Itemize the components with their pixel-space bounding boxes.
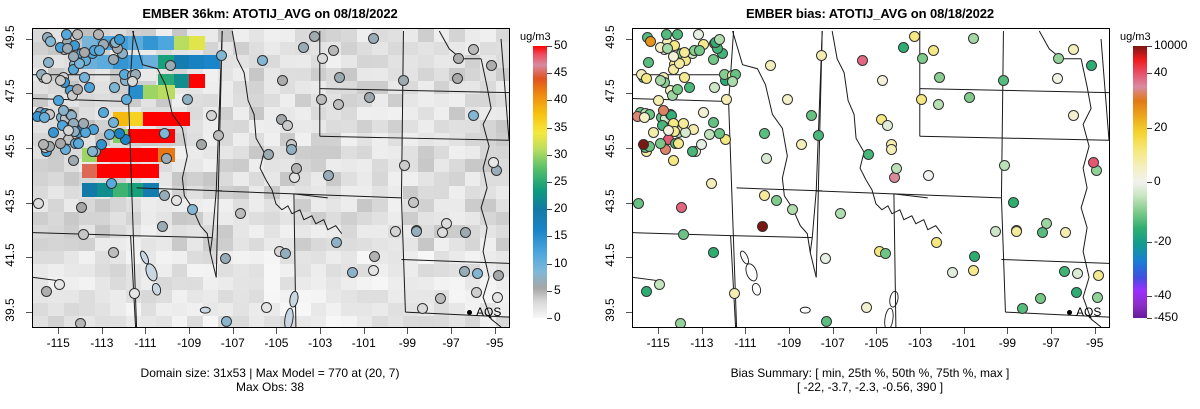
x-tick	[495, 328, 496, 334]
y-tick	[26, 312, 32, 313]
y-tick	[26, 39, 32, 40]
caption-model: Domain size: 31x53 | Max Model = 770 at …	[0, 366, 540, 394]
station-marker	[708, 117, 719, 128]
colorbar-tick	[547, 46, 552, 47]
station-marker	[1086, 60, 1097, 71]
colorbar-tick	[547, 182, 552, 183]
x-tick	[58, 328, 59, 334]
station-marker	[411, 226, 422, 237]
y-tick	[626, 39, 632, 40]
station-marker	[990, 226, 1001, 237]
station-marker	[72, 84, 83, 95]
aqs-marker-dot-model	[467, 310, 472, 315]
colorbar-tick	[1147, 73, 1152, 74]
x-tick-label: -99	[985, 336, 1029, 350]
x-tick-label: -105	[254, 336, 298, 350]
station-marker	[187, 204, 198, 215]
station-marker	[813, 130, 824, 141]
station-marker	[235, 208, 246, 219]
station-marker	[696, 139, 707, 150]
station-marker	[196, 139, 207, 150]
station-marker	[928, 45, 939, 56]
colorbar-tick	[547, 73, 552, 74]
x-tick-label: -105	[854, 336, 898, 350]
station-marker	[654, 279, 665, 290]
station-marker	[678, 229, 689, 240]
station-marker	[48, 127, 59, 138]
station-marker	[328, 45, 339, 56]
x-tick-label: -115	[36, 336, 80, 350]
x-tick-label: -109	[167, 336, 211, 350]
station-marker	[68, 51, 79, 62]
x-tick-label: -111	[723, 336, 767, 350]
x-tick	[276, 328, 277, 334]
station-marker	[114, 34, 125, 45]
caption-bias-line1: Bias Summary: [ min, 25th %, 50th %, 75t…	[600, 366, 1140, 380]
station-marker	[672, 84, 683, 95]
station-marker	[55, 75, 66, 86]
station-marker	[787, 204, 798, 215]
y-tick-label: 47.5	[603, 67, 617, 115]
x-tick-label: -103	[898, 336, 942, 350]
y-tick-label: 49.5	[3, 13, 17, 61]
station-marker	[835, 208, 846, 219]
station-marker	[435, 293, 446, 304]
station-marker	[277, 75, 288, 86]
colorbar-tick-label: 0	[1154, 174, 1161, 188]
x-tick	[702, 328, 703, 334]
caption-model-line2: Max Obs: 38	[0, 380, 540, 394]
station-marker	[159, 190, 170, 201]
station-marker	[298, 42, 309, 53]
station-marker	[84, 82, 95, 93]
aqs-marker-dot-bias	[1067, 310, 1072, 315]
y-tick	[26, 93, 32, 94]
colorbar-tick-label: 15	[554, 228, 567, 242]
colorbar-tick	[547, 318, 552, 319]
station-marker	[638, 139, 649, 150]
station-marker	[106, 178, 117, 189]
station-marker	[417, 303, 428, 314]
station-marker	[648, 127, 659, 138]
station-marker	[493, 270, 504, 281]
y-tick	[626, 203, 632, 204]
station-marker	[54, 279, 65, 290]
station-marker	[72, 29, 83, 40]
station-marker	[931, 237, 942, 248]
station-marker	[408, 197, 419, 208]
x-tick	[1095, 328, 1096, 334]
station-marker	[39, 112, 50, 123]
colorbar-tick-label: 0	[554, 310, 561, 324]
colorbar-tick	[547, 155, 552, 156]
station-marker	[98, 107, 109, 118]
x-tick	[658, 328, 659, 334]
station-marker	[282, 120, 293, 131]
y-tick-label: 41.5	[603, 231, 617, 279]
caption-bias: Bias Summary: [ min, 25th %, 50th %, 75t…	[600, 366, 1140, 394]
station-marker	[1072, 268, 1083, 279]
x-tick	[102, 328, 103, 334]
y-tick-label: 39.5	[603, 286, 617, 334]
station-marker	[782, 94, 793, 105]
station-marker	[94, 45, 105, 56]
colorbar-tick-label: 5	[554, 283, 561, 297]
station-marker	[698, 107, 709, 118]
station-marker	[1068, 110, 1079, 121]
station-marker	[727, 76, 738, 87]
x-tick	[364, 328, 365, 334]
aqs-label-bias: AQS	[1076, 305, 1101, 319]
y-tick-label: 47.5	[3, 67, 17, 115]
station-marker	[1052, 73, 1063, 84]
station-marker	[206, 110, 217, 121]
colorbar-tick-label: 20	[1154, 120, 1167, 134]
y-tick	[626, 257, 632, 258]
station-marker	[1071, 287, 1082, 298]
station-marker	[33, 198, 44, 209]
station-marker	[643, 57, 654, 68]
station-marker	[999, 160, 1010, 171]
colorbar-tick-label: 10	[554, 256, 567, 270]
station-marker	[323, 170, 334, 181]
colorbar-tick-label: 40	[1154, 65, 1167, 79]
station-marker	[1092, 292, 1103, 303]
station-marker	[771, 195, 782, 206]
station-marker	[645, 36, 656, 47]
y-tick-label: 49.5	[603, 13, 617, 61]
station-marker	[334, 72, 345, 83]
station-marker	[668, 51, 679, 62]
station-marker	[109, 82, 120, 93]
station-marker	[368, 33, 379, 44]
station-marker	[964, 92, 975, 103]
station-marker	[453, 53, 464, 64]
station-marker	[121, 94, 132, 105]
station-marker	[909, 31, 920, 42]
station-marker	[471, 287, 482, 298]
station-marker	[347, 267, 358, 278]
colorbar-tick	[1147, 128, 1152, 129]
station-marker	[257, 55, 268, 66]
colorbar-tick	[1147, 318, 1152, 319]
station-marker	[108, 247, 119, 258]
station-marker	[684, 82, 695, 93]
y-tick	[626, 148, 632, 149]
station-marker	[639, 112, 650, 123]
station-marker	[863, 149, 874, 160]
x-tick-label: -97	[1029, 336, 1073, 350]
x-tick	[233, 328, 234, 334]
station-marker	[398, 75, 409, 86]
station-marker	[171, 195, 182, 206]
colorbar-tick-label: 45	[554, 65, 567, 79]
station-marker	[96, 139, 107, 150]
station-marker	[934, 72, 945, 83]
figure-root: EMBER 36km: ATOTIJ_AVG on 08/18/2022	[0, 0, 1200, 409]
station-marker	[672, 29, 683, 40]
station-marker	[641, 286, 652, 297]
station-marker	[708, 247, 719, 258]
station-marker	[796, 139, 807, 150]
caption-model-line1: Domain size: 31x53 | Max Model = 770 at …	[0, 366, 540, 380]
station-marker	[709, 82, 720, 93]
station-marker	[877, 75, 888, 86]
station-marker	[759, 128, 770, 139]
y-tick-label: 39.5	[3, 286, 17, 334]
station-marker	[263, 149, 274, 160]
x-tick-label: -103	[298, 336, 342, 350]
station-marker	[820, 253, 831, 264]
colorbar-tick	[1147, 46, 1152, 47]
y-tick	[26, 203, 32, 204]
station-marker	[492, 292, 503, 303]
station-marker	[916, 94, 927, 105]
bias-station-markers	[633, 29, 1109, 327]
station-marker	[898, 42, 909, 53]
x-tick	[407, 328, 408, 334]
panel-bias: EMBER bias: ATOTIJ_AVG on 08/18/2022	[600, 0, 1200, 409]
station-marker	[917, 53, 928, 64]
station-marker	[108, 117, 119, 128]
station-marker	[316, 94, 327, 105]
colorbar-tick	[1147, 242, 1152, 243]
y-tick-label: 41.5	[3, 231, 17, 279]
colorbar-tick-label: 30	[554, 147, 567, 161]
station-marker	[291, 163, 302, 174]
station-marker	[694, 45, 705, 56]
station-marker	[221, 316, 232, 327]
station-marker	[880, 248, 891, 259]
x-tick-label: -95	[473, 336, 517, 350]
station-marker	[45, 36, 56, 47]
station-marker	[1053, 53, 1064, 64]
station-marker	[452, 73, 463, 84]
station-marker	[765, 60, 776, 71]
station-marker	[161, 153, 172, 164]
station-marker	[933, 99, 944, 110]
y-tick-label: 45.5	[3, 122, 17, 170]
station-marker	[459, 266, 470, 277]
station-marker	[331, 237, 342, 248]
station-marker	[213, 130, 224, 141]
station-marker	[1059, 266, 1070, 277]
station-marker	[309, 31, 320, 42]
colorbar-tick-label: 50	[554, 38, 567, 52]
x-tick	[320, 328, 321, 334]
station-marker	[1068, 44, 1079, 55]
station-marker	[668, 155, 679, 166]
station-marker	[486, 60, 497, 71]
colorbar-tick-label: 20	[554, 201, 567, 215]
station-marker	[68, 155, 79, 166]
station-marker	[633, 198, 644, 209]
station-marker	[641, 73, 652, 84]
panel-title-model: EMBER 36km: ATOTIJ_AVG on 08/18/2022	[0, 6, 540, 21]
station-marker	[220, 253, 231, 264]
colorbar-tick	[547, 236, 552, 237]
station-marker	[821, 316, 832, 327]
station-marker	[165, 60, 176, 71]
station-marker	[488, 157, 499, 168]
station-marker	[704, 129, 715, 140]
x-tick	[1051, 328, 1052, 334]
x-tick	[789, 328, 790, 334]
colorbar-tick-label: 35	[554, 120, 567, 134]
x-tick-label: -97	[429, 336, 473, 350]
station-marker	[460, 227, 471, 238]
station-marker	[127, 76, 138, 87]
colorbar-tick	[547, 291, 552, 292]
station-marker	[676, 202, 687, 213]
station-marker	[1060, 227, 1071, 238]
station-marker	[182, 94, 193, 105]
station-marker	[1035, 293, 1046, 304]
x-tick	[964, 328, 965, 334]
station-marker	[369, 251, 380, 262]
station-marker	[61, 29, 72, 40]
y-tick-label: 43.5	[603, 177, 617, 225]
colorbar-model	[533, 46, 547, 318]
x-tick-label: -109	[767, 336, 811, 350]
station-marker	[673, 138, 684, 149]
station-marker	[923, 170, 934, 181]
station-marker	[368, 265, 379, 276]
station-marker	[706, 178, 717, 189]
colorbar-tick-label: 10000	[1154, 38, 1187, 52]
x-tick	[145, 328, 146, 334]
map-plot-bias[interactable]: AQS	[632, 28, 1110, 328]
station-marker	[816, 50, 827, 61]
station-marker	[968, 33, 979, 44]
x-tick-label: -111	[123, 336, 167, 350]
x-tick	[745, 328, 746, 334]
x-tick	[833, 328, 834, 334]
colorbar-unit-bias: ug/m3	[1120, 31, 1151, 43]
station-marker	[280, 248, 291, 259]
colorbar-tick-label: 25	[554, 174, 567, 188]
station-marker	[399, 160, 410, 171]
station-marker	[216, 50, 227, 61]
station-marker	[759, 190, 770, 201]
station-marker	[472, 268, 483, 279]
map-plot-model[interactable]: AQS	[32, 28, 510, 328]
aqs-label-model: AQS	[476, 305, 501, 319]
x-tick-label: -113	[680, 336, 724, 350]
colorbar-tick-label: -40	[1154, 288, 1171, 302]
colorbar-bias	[1133, 46, 1147, 318]
station-marker	[157, 221, 168, 232]
colorbar-tick-label: 40	[554, 92, 567, 106]
station-marker	[714, 34, 725, 45]
station-marker	[806, 110, 817, 121]
y-tick	[626, 93, 632, 94]
y-tick-label: 45.5	[603, 122, 617, 170]
x-tick-label: -107	[811, 336, 855, 350]
colorbar-tick	[547, 128, 552, 129]
colorbar-tick-label: -20	[1154, 234, 1171, 248]
x-tick-label: -99	[385, 336, 429, 350]
station-marker	[364, 92, 375, 103]
x-tick-label: -107	[211, 336, 255, 350]
station-marker	[76, 202, 87, 213]
station-marker	[675, 318, 686, 328]
station-marker	[38, 139, 49, 150]
colorbar-tick	[547, 209, 552, 210]
station-marker	[757, 221, 768, 232]
colorbar-tick-label: -450	[1154, 310, 1178, 324]
station-marker	[721, 94, 732, 105]
station-marker	[41, 286, 52, 297]
x-tick	[876, 328, 877, 334]
x-tick-label: -101	[942, 336, 986, 350]
station-marker	[468, 110, 479, 121]
station-marker	[998, 75, 1009, 86]
y-tick	[626, 312, 632, 313]
station-marker	[390, 226, 401, 237]
x-tick-label: -101	[342, 336, 386, 350]
station-marker	[73, 138, 84, 149]
station-marker	[78, 229, 89, 240]
x-tick	[189, 328, 190, 334]
station-marker	[75, 318, 86, 328]
x-tick-label: -115	[636, 336, 680, 350]
station-marker	[129, 288, 140, 299]
station-marker	[333, 99, 344, 110]
colorbar-tick	[1147, 182, 1152, 183]
colorbar-tick	[547, 264, 552, 265]
y-tick-label: 43.5	[3, 177, 17, 225]
station-marker	[1011, 226, 1022, 237]
station-marker	[882, 120, 893, 131]
colorbar-tick	[547, 100, 552, 101]
colorbar-unit-model: ug/m3	[520, 31, 551, 43]
station-marker	[886, 144, 897, 155]
x-tick-label: -113	[80, 336, 124, 350]
station-marker	[261, 302, 272, 313]
x-tick-label: -95	[1073, 336, 1117, 350]
station-marker	[1008, 197, 1019, 208]
model-station-markers	[33, 29, 509, 327]
station-marker	[43, 57, 54, 68]
station-marker	[661, 29, 672, 40]
station-marker	[286, 144, 297, 155]
x-tick	[451, 328, 452, 334]
caption-bias-line2: [ -22, -3.7, -2.3, -0.56, 390 ]	[600, 380, 1140, 394]
station-marker	[891, 163, 902, 174]
station-marker	[41, 73, 52, 84]
station-marker	[1088, 157, 1099, 168]
station-marker	[729, 288, 740, 299]
station-marker	[104, 129, 115, 140]
station-marker	[969, 251, 980, 262]
x-tick	[920, 328, 921, 334]
x-tick	[1007, 328, 1008, 334]
station-marker	[968, 265, 979, 276]
station-marker	[317, 53, 328, 64]
station-marker	[1017, 303, 1028, 314]
panel-title-bias: EMBER bias: ATOTIJ_AVG on 08/18/2022	[600, 6, 1140, 21]
station-marker	[861, 302, 872, 313]
panel-model: EMBER 36km: ATOTIJ_AVG on 08/18/2022	[0, 0, 600, 409]
station-marker	[159, 128, 170, 139]
station-marker	[468, 44, 479, 55]
colorbar-tick	[1147, 296, 1152, 297]
station-marker	[1037, 227, 1048, 238]
station-marker	[947, 267, 958, 278]
station-marker	[437, 227, 448, 238]
y-tick	[26, 148, 32, 149]
